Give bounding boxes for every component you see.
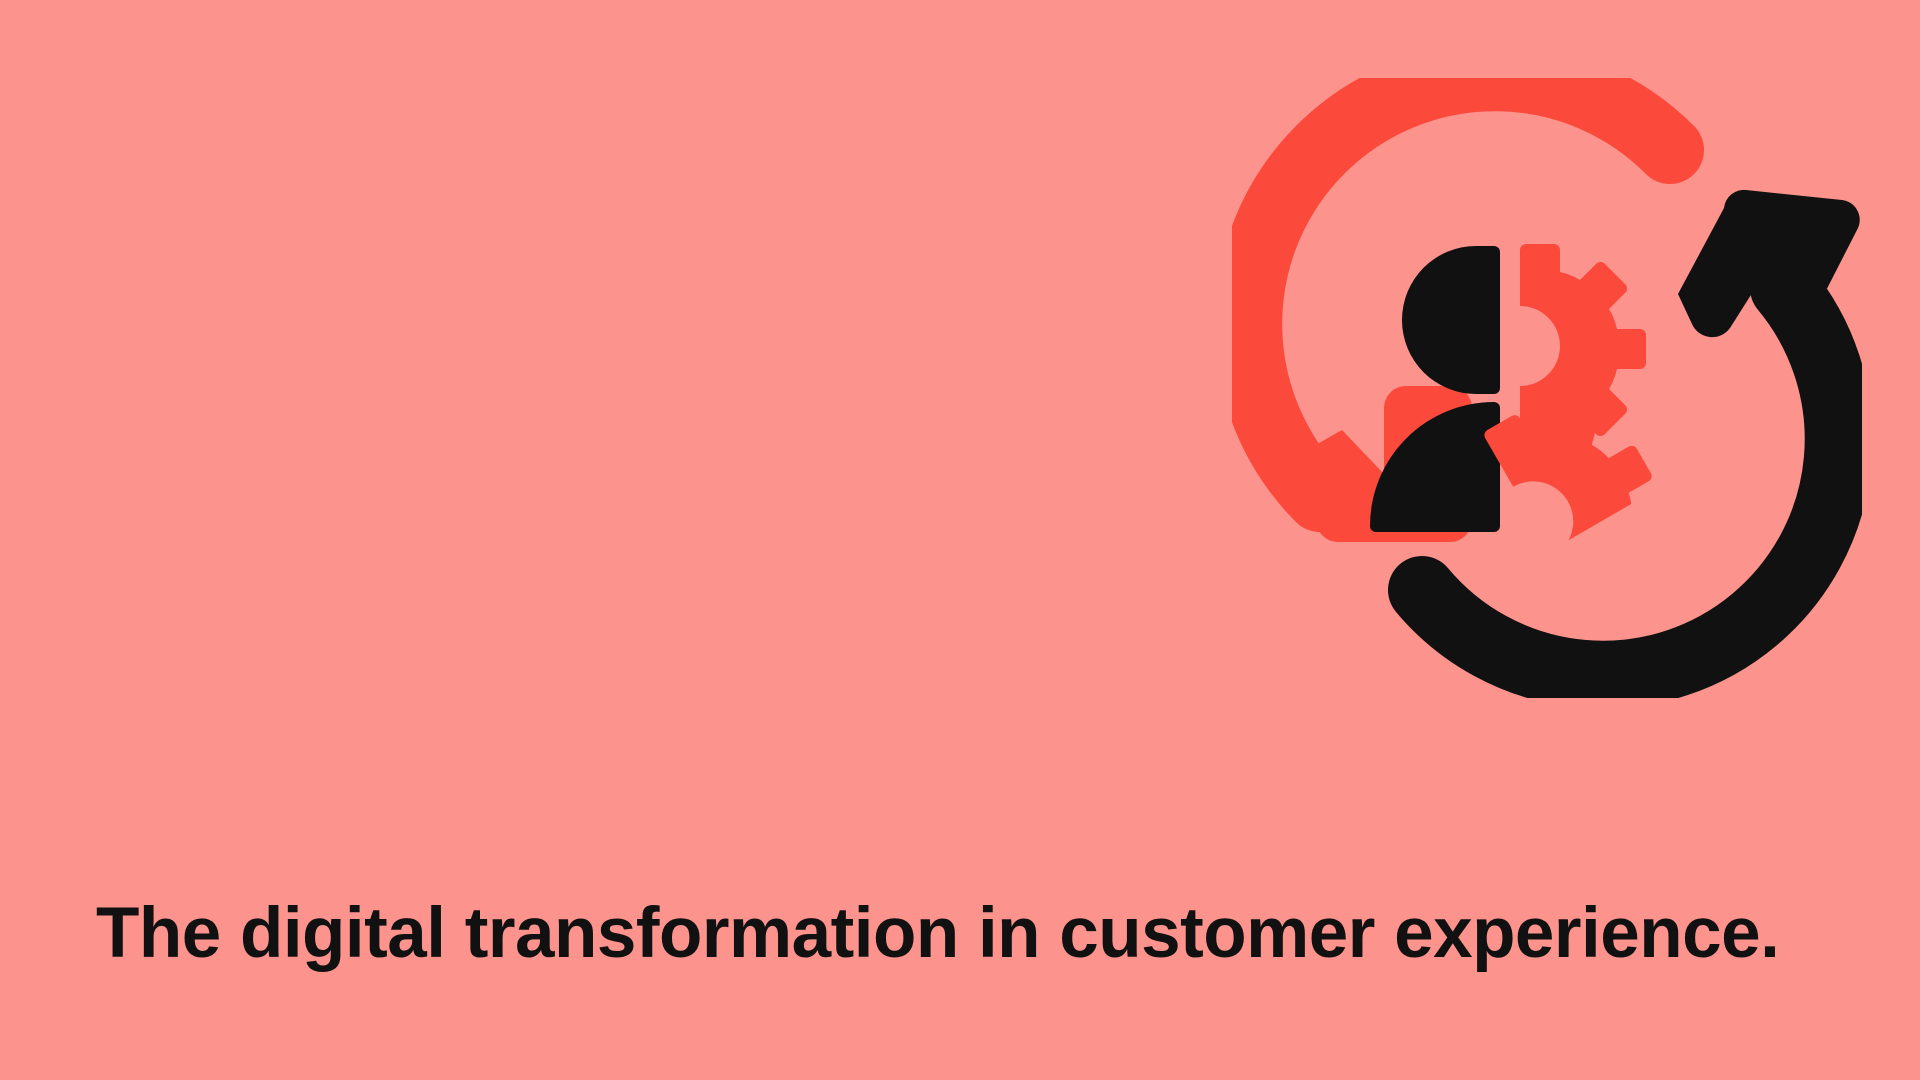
- page-title: The digital transformation in customer e…: [96, 898, 1796, 969]
- person-head-left-half: [1402, 246, 1500, 394]
- slide-canvas: The digital transformation in customer e…: [0, 0, 1920, 1080]
- digital-transformation-cycle-icon: [1232, 78, 1862, 698]
